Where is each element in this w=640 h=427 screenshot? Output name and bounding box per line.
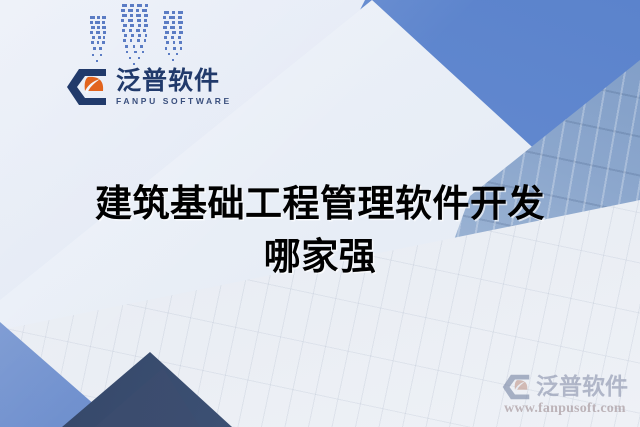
watermark: 泛普软件 www.fanpusoft.com: [502, 374, 628, 417]
headline: 建筑基础工程管理软件开发 哪家强: [0, 178, 640, 283]
headline-line-2: 哪家强: [0, 231, 640, 284]
brand-logo: 泛普软件 FANPU SOFTWARE: [66, 68, 232, 106]
brand-name-cn: 泛普软件: [116, 68, 232, 93]
brand-logo-text: 泛普软件 FANPU SOFTWARE: [116, 68, 232, 106]
headline-line-1: 建筑基础工程管理软件开发: [0, 178, 640, 231]
watermark-brand-row: 泛普软件: [502, 374, 628, 400]
watermark-url: www.fanpusoft.com: [504, 401, 626, 417]
promo-banner: 泛普软件 FANPU SOFTWARE 建筑基础工程管理软件开发 哪家强 泛普软…: [0, 0, 640, 427]
fanpu-watermark-logo-icon: [502, 374, 532, 400]
pixel-skyline-graphic: [88, 2, 196, 68]
fanpu-hexagon-logo-icon: [66, 68, 110, 106]
brand-name-en: FANPU SOFTWARE: [116, 97, 232, 106]
watermark-brand-cn: 泛普软件: [536, 376, 628, 399]
